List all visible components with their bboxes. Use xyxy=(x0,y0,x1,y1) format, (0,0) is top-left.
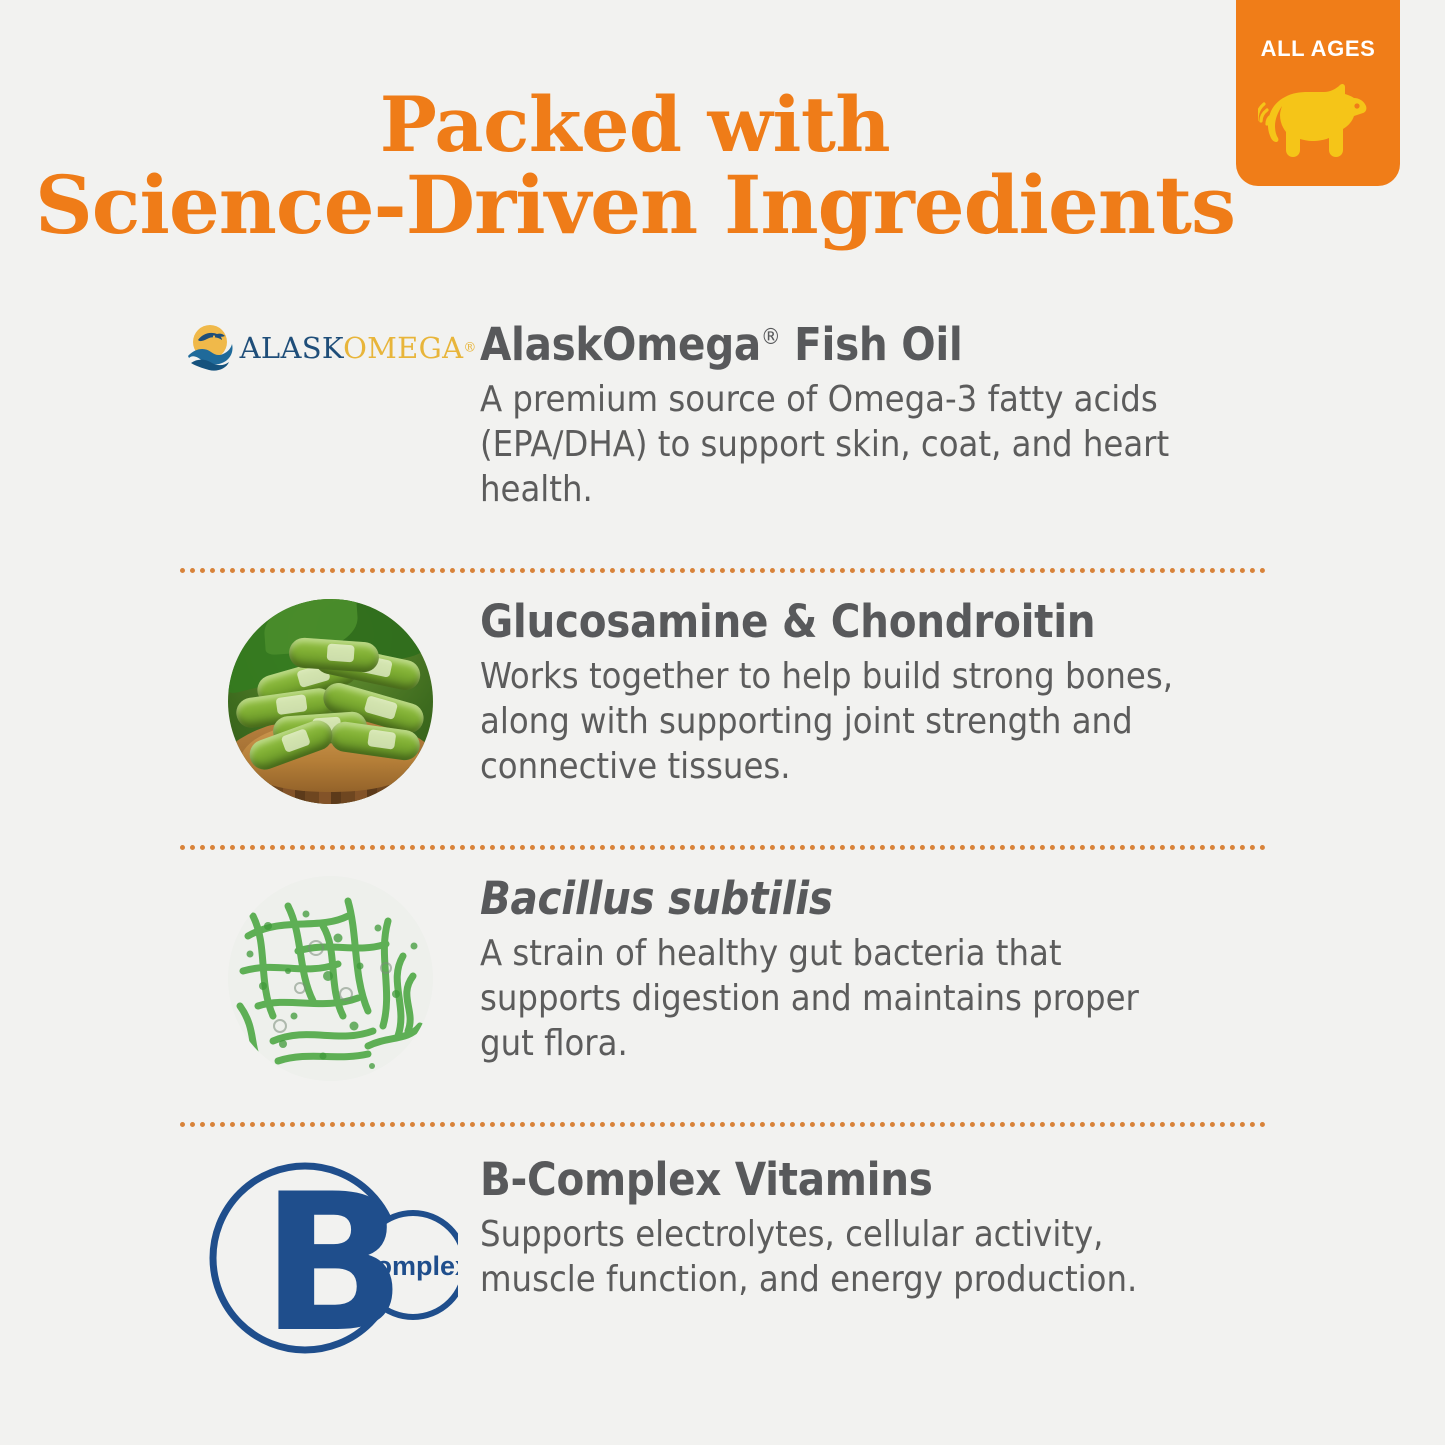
ingredient-content: B-Complex Vitamins Supports electrolytes… xyxy=(480,1147,1180,1302)
alaskomega-logo: ALASKOMEGA® xyxy=(180,316,480,374)
all-ages-label: ALL AGES xyxy=(1261,36,1376,62)
ingredients-infographic: ALL AGES Packed with Science-Driven Ingr… xyxy=(0,0,1445,1445)
ingredient-content: Glucosamine & Chondroitin Works together… xyxy=(480,593,1180,789)
ingredient-title: Bacillus subtilis xyxy=(480,872,1180,925)
ingredient-description: A premium source of Omega-3 fatty acids … xyxy=(480,377,1180,512)
page-title: Packed with Science-Driven Ingredients xyxy=(0,86,1270,247)
b-complex-letter: B xyxy=(261,1153,406,1368)
dog-silhouette-icon xyxy=(1258,68,1378,181)
ingredient-description: Supports electrolytes, cellular activity… xyxy=(480,1212,1180,1302)
headline-line-1: Packed with xyxy=(380,80,890,169)
bacteria-microscopy-photo xyxy=(180,870,480,1081)
b-complex-logo: Complex B xyxy=(180,1147,480,1368)
ingredient-description: A strain of healthy gut bacteria that su… xyxy=(480,931,1180,1066)
ingredient-content: AlaskOmega® Fish Oil A premium source of… xyxy=(480,316,1180,512)
ingredient-row-bacillus: Bacillus subtilis A strain of healthy gu… xyxy=(0,870,1445,1102)
ingredient-title: Glucosamine & Chondroitin xyxy=(480,595,1180,648)
alaskomega-registered-mark: ® xyxy=(463,341,476,356)
ingredient-row-alaskomega: ALASKOMEGA® AlaskOmega® Fish Oil A premi… xyxy=(0,316,1445,548)
ingredient-description: Works together to help build strong bone… xyxy=(480,654,1180,789)
green-capsules-photo xyxy=(180,593,480,804)
ingredient-title: B-Complex Vitamins xyxy=(480,1153,1180,1206)
ingredient-title: AlaskOmega® Fish Oil xyxy=(480,318,1180,371)
ingredient-row-glucosamine: Glucosamine & Chondroitin Works together… xyxy=(0,593,1445,825)
alaskomega-emblem-icon xyxy=(184,322,236,374)
row-divider xyxy=(180,1122,1266,1127)
row-divider xyxy=(180,568,1266,573)
ingredient-title-text: AlaskOmega xyxy=(480,318,761,371)
alaskomega-wordmark-part2: OMEGA xyxy=(343,331,463,365)
headline-line-2: Science-Driven Ingredients xyxy=(0,164,1270,246)
ingredient-row-bcomplex: Complex B B-Complex Vitamins Supports el… xyxy=(0,1147,1445,1379)
alaskomega-wordmark-part1: ALASK xyxy=(240,331,343,365)
ingredient-title-suffix: Fish Oil xyxy=(780,318,962,371)
row-divider xyxy=(180,845,1266,850)
ingredient-content: Bacillus subtilis A strain of healthy gu… xyxy=(480,870,1180,1066)
ingredient-list: ALASKOMEGA® AlaskOmega® Fish Oil A premi… xyxy=(0,316,1445,1379)
registered-mark: ® xyxy=(761,325,781,350)
